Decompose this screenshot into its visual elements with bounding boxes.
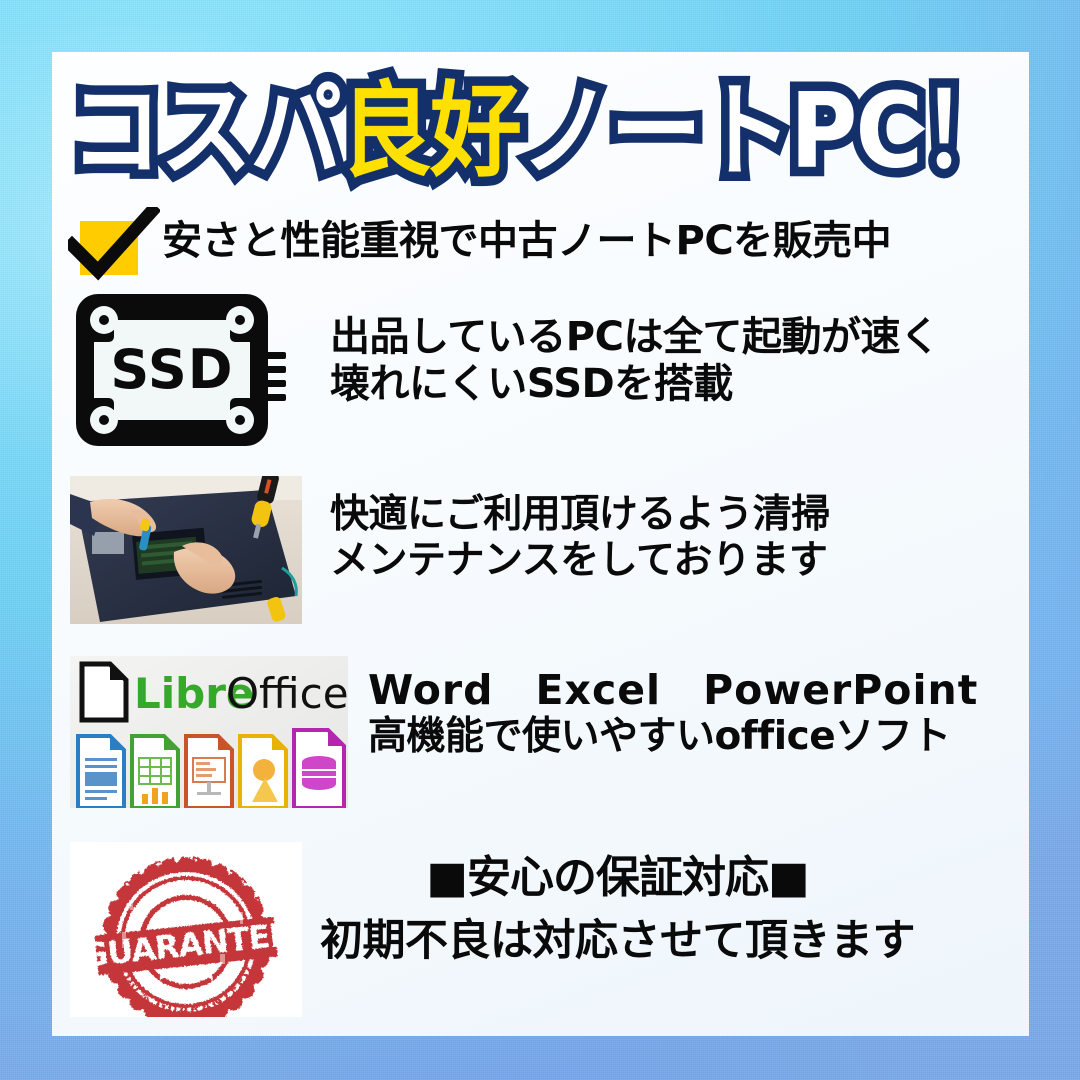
svg-text:SSD: SSD <box>110 338 233 401</box>
feature-row-office: Libre Office <box>70 652 1020 822</box>
title-highlight: 良好 <box>340 72 520 192</box>
feature-row-maintenance: 快適にご利用頂けるよう清掃 メンテナンスをしております <box>70 470 1020 630</box>
ssd-drive-icon: SSD <box>70 290 302 450</box>
page-title: コスパ良好ノートPC！ <box>52 72 1029 192</box>
guarantee-line-1: ■安心の保証対応■ <box>320 852 915 904</box>
title-part-2: ノートPC！ <box>520 72 1011 192</box>
laptop-repair-photo <box>70 476 302 624</box>
office-word: Office <box>226 669 348 718</box>
libreoffice-logo: Libre Office <box>70 656 348 808</box>
feature-row-guarantee: 100% GUARANTEED 100% GUARANTEED <box>70 842 1020 1022</box>
yellow-check-box-icon <box>74 209 148 275</box>
office-desc-line: 高機能で使いやすいofficeソフト <box>368 714 978 760</box>
check-row-text: 安さと性能重視で中古ノートPCを販売中 <box>162 218 891 265</box>
office-row-text: Word Excel PowerPoint 高機能で使いやすいofficeソフト <box>368 666 978 822</box>
guarantee-line-2: 初期不良は対応させて頂きます <box>320 916 915 967</box>
content-panel: コスパ良好ノートPC！ 安さと性能重視で中古ノートPCを販売中 <box>52 52 1029 1036</box>
ssd-line-2: 壊れにくいSSDを搭載 <box>330 361 939 408</box>
ssd-row-text: 出品しているPCは全て起動が速く 壊れにくいSSDを搭載 <box>330 314 939 454</box>
maintenance-row-text: 快適にご利用頂けるよう清掃 メンテナンスをしております <box>330 492 830 630</box>
maintenance-line-2: メンテナンスをしております <box>330 538 830 584</box>
ssd-line-1: 出品しているPCは全て起動が速く <box>330 314 939 361</box>
feature-row-check: 安さと性能重視で中古ノートPCを販売中 <box>70 202 1020 282</box>
office-apps-line: Word Excel PowerPoint <box>368 666 978 714</box>
title-part-1: コスパ <box>70 72 340 192</box>
maintenance-line-1: 快適にご利用頂けるよう清掃 <box>330 492 830 538</box>
guarantee-row-text: ■安心の保証対応■ 初期不良は対応させて頂きます <box>320 852 915 1022</box>
feature-row-ssd: SSD 出品しているPCは全て起動が速く 壊れにくいSSDを搭載 <box>70 290 1020 454</box>
guarantee-stamp: 100% GUARANTEED 100% GUARANTEED <box>70 842 302 1017</box>
